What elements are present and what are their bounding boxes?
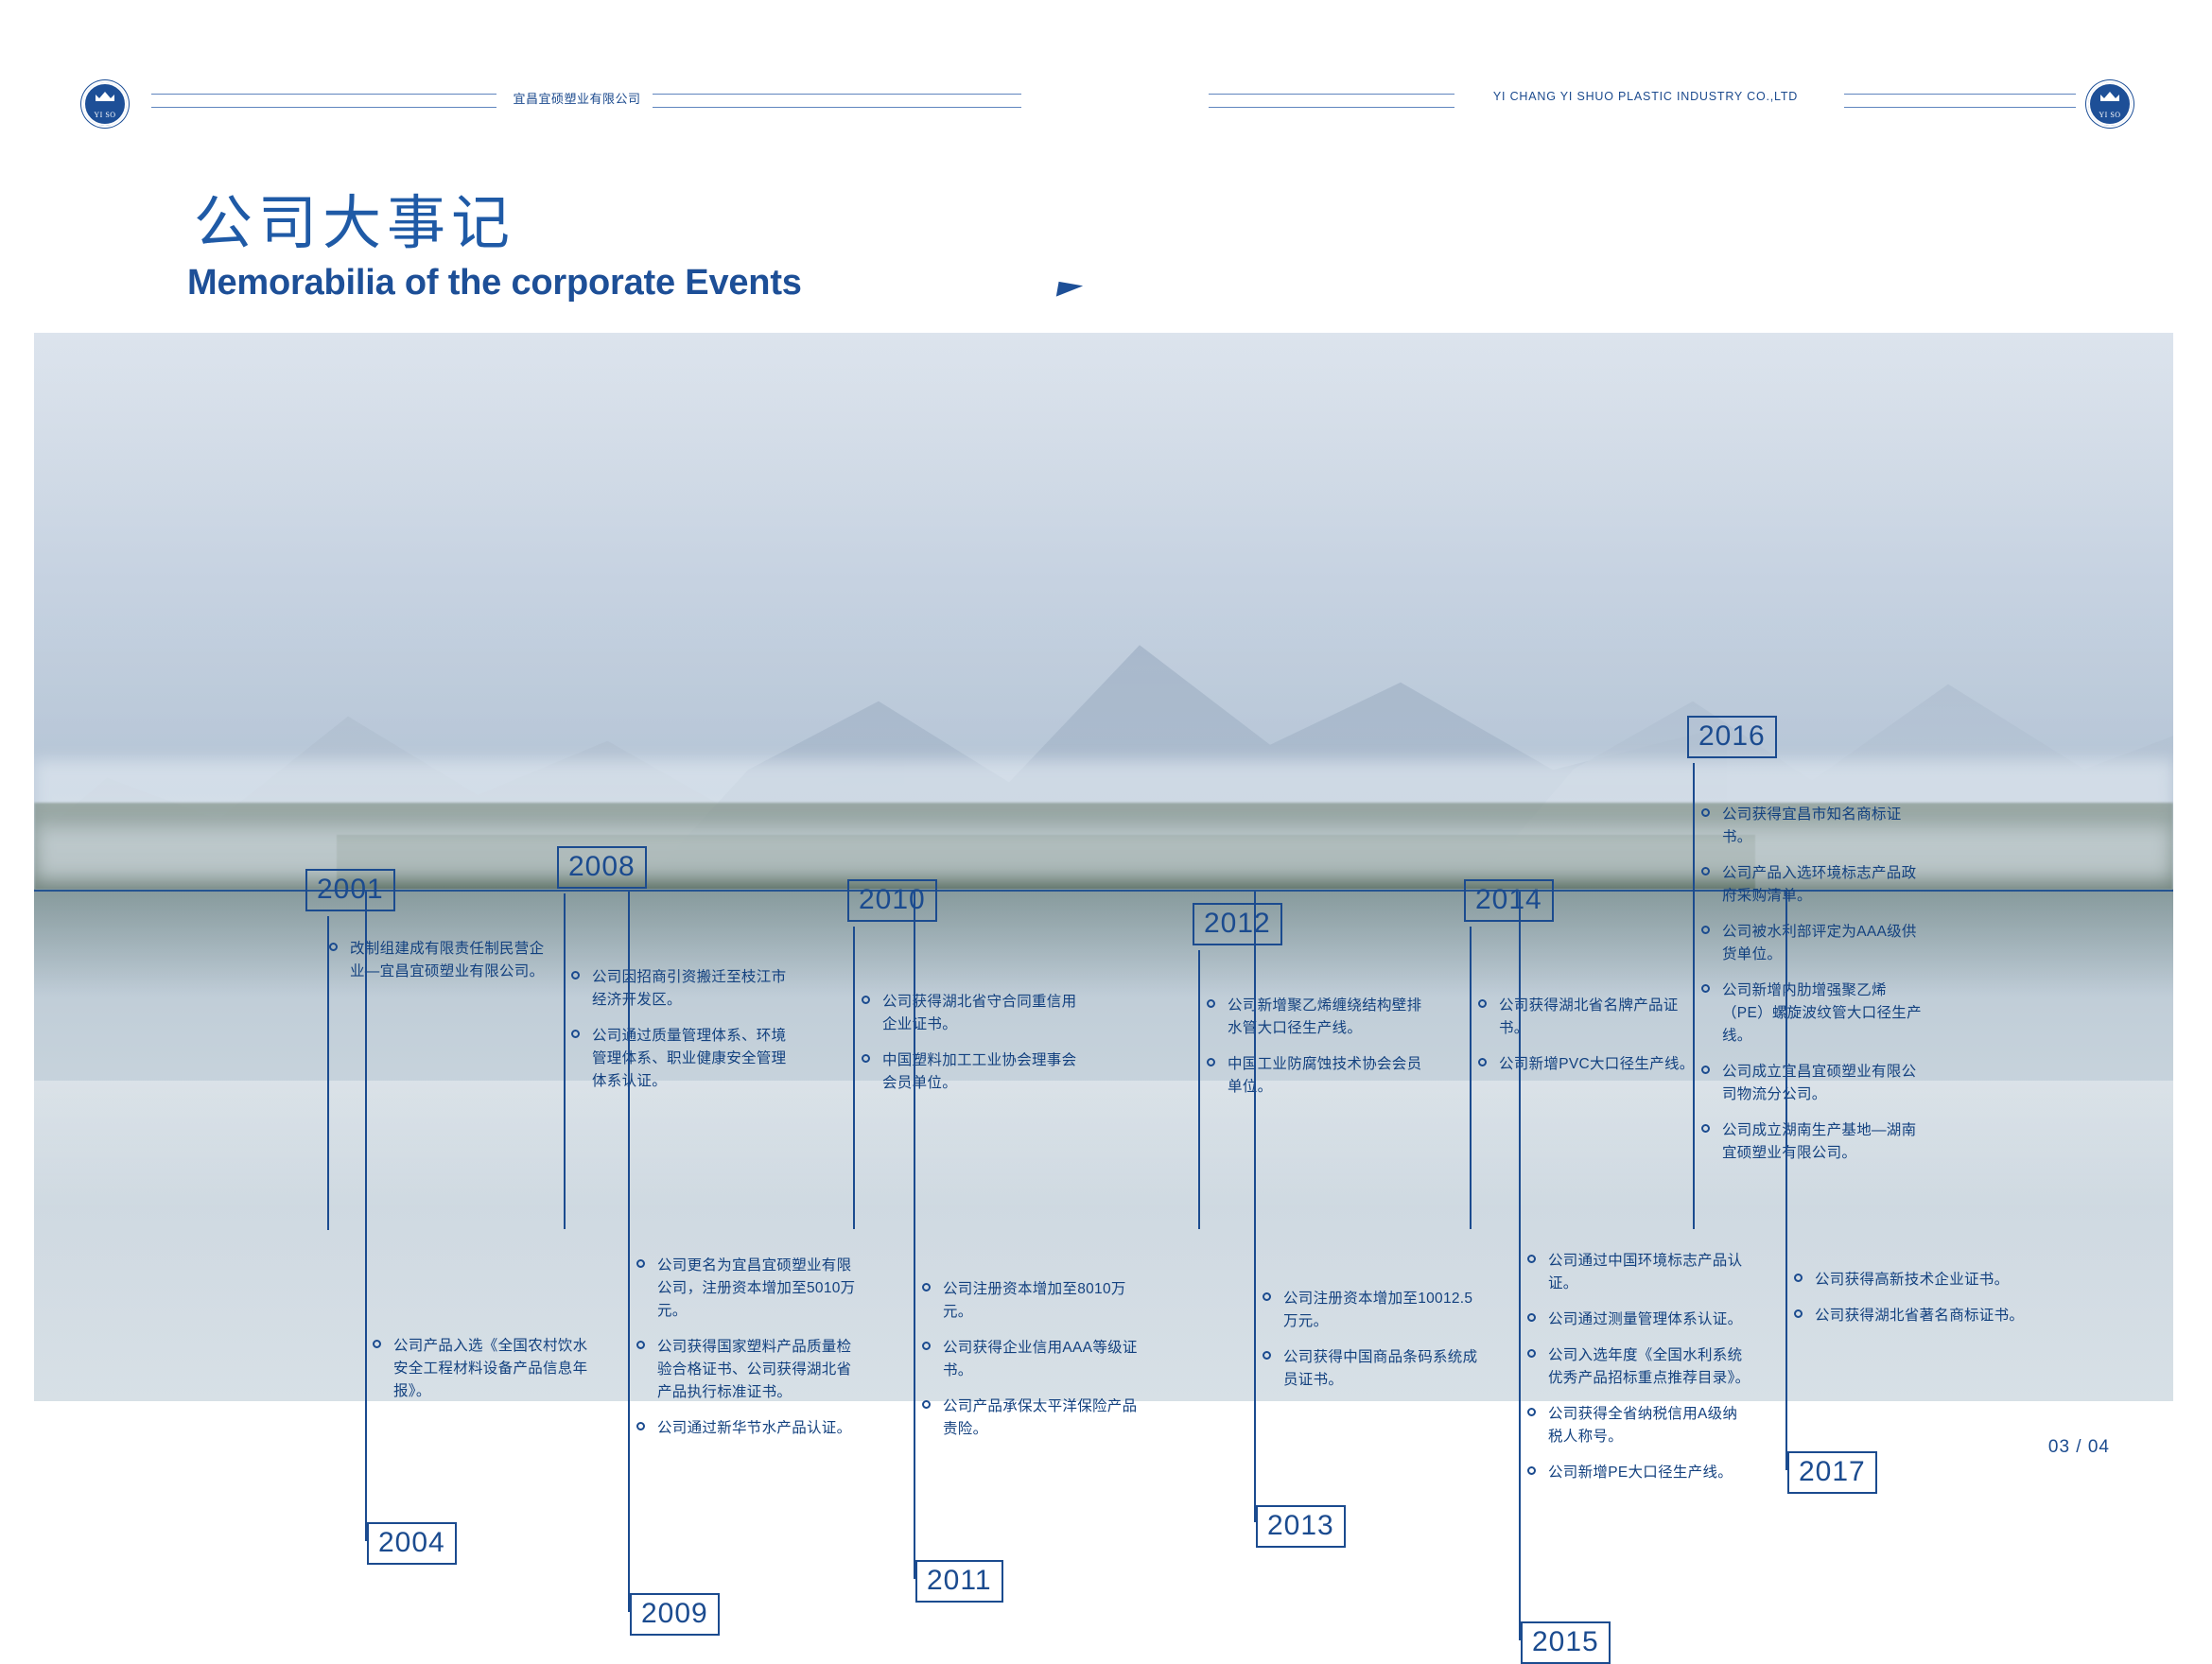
list-item: 公司获得国家塑料产品质量检验合格证书、公司获得湖北省产品执行标准证书。 bbox=[636, 1336, 861, 1404]
entry-items: 公司获得湖北省守合同重信用企业证书。 中国塑料加工工业协会理事会会员单位。 bbox=[862, 991, 1086, 1108]
entry-items: 公司获得宜昌市知名商标证书。 公司产品入选环境标志产品政府采购清单。 公司被水利… bbox=[1701, 804, 1925, 1178]
entry-items: 公司注册资本增加至8010万元。 公司获得企业信用AAA等级证书。 公司产品承保… bbox=[922, 1278, 1146, 1454]
list-item: 中国工业防腐蚀技术协会会员单位。 bbox=[1207, 1053, 1431, 1099]
list-item: 公司获得全省纳税信用A级纳税人称号。 bbox=[1527, 1403, 1751, 1448]
logo-ring bbox=[2088, 82, 2132, 126]
year-label: 2014 bbox=[1464, 879, 1554, 922]
year-label: 2017 bbox=[1787, 1451, 1877, 1494]
entry-items: 公司获得高新技术企业证书。 公司获得湖北省著名商标证书。 bbox=[1794, 1269, 2024, 1341]
page-number: 03 / 04 bbox=[2048, 1437, 2110, 1458]
entry-bracket bbox=[1470, 927, 1472, 1229]
logo-text: YI SO bbox=[2088, 111, 2132, 119]
header-company-name-en: YI CHANG YI SHUO PLASTIC INDUSTRY CO.,LT… bbox=[1437, 90, 1854, 103]
header-rule bbox=[1844, 107, 2076, 108]
list-item: 中国塑料加工工业协会理事会会员单位。 bbox=[862, 1049, 1086, 1095]
list-item: 公司新增内肋增强聚乙烯（PE）螺旋波纹管大口径生产线。 bbox=[1701, 979, 1925, 1048]
header-rule bbox=[653, 94, 1021, 95]
year-label: 2004 bbox=[367, 1522, 457, 1565]
list-item: 公司新增聚乙烯缠绕结构壁排水管大口径生产线。 bbox=[1207, 995, 1431, 1040]
company-logo-left: YI SO bbox=[83, 82, 127, 126]
year-label: 2009 bbox=[630, 1593, 720, 1636]
year-label: 2012 bbox=[1193, 903, 1282, 945]
list-item: 公司更名为宜昌宜硕塑业有限公司，注册资本增加至5010万元。 bbox=[636, 1255, 861, 1323]
entry-items: 公司更名为宜昌宜硕塑业有限公司，注册资本增加至5010万元。 公司获得国家塑料产… bbox=[636, 1255, 861, 1453]
list-item: 公司注册资本增加至8010万元。 bbox=[922, 1278, 1146, 1324]
list-item: 公司获得湖北省名牌产品证书。 bbox=[1478, 995, 1702, 1040]
timeline: 2001 改制组建成有限责任制民营企业—宜昌宜硕塑业有限公司。 2008 公司因… bbox=[34, 333, 2173, 1401]
list-item: 公司获得高新技术企业证书。 bbox=[1794, 1269, 2024, 1291]
brochure-page: YI SO YI SO 宜昌宜硕塑业有限公司 YI CHANG YI SHUO … bbox=[0, 0, 2212, 1563]
header-rule bbox=[1844, 94, 2076, 95]
list-item: 公司被水利部评定为AAA级供货单位。 bbox=[1701, 921, 1925, 966]
entry-bracket bbox=[1785, 892, 1787, 1470]
entry-items: 公司注册资本增加至10012.5万元。 公司获得中国商品条码系统成员证书。 bbox=[1263, 1288, 1487, 1405]
entry-bracket bbox=[564, 893, 566, 1229]
list-item: 公司获得宜昌市知名商标证书。 bbox=[1701, 804, 1925, 849]
list-item: 公司成立宜昌宜硕塑业有限公司物流分公司。 bbox=[1701, 1061, 1925, 1106]
entry-items: 公司因招商引资搬迁至枝江市经济开发区。 公司通过质量管理体系、环境管理体系、职业… bbox=[571, 966, 795, 1106]
list-item: 公司通过中国环境标志产品认证。 bbox=[1527, 1250, 1751, 1295]
entry-items: 公司获得湖北省名牌产品证书。 公司新增PVC大口径生产线。 bbox=[1478, 995, 1702, 1089]
page-header: YI SO YI SO 宜昌宜硕塑业有限公司 YI CHANG YI SHUO … bbox=[0, 0, 2212, 180]
entry-items: 改制组建成有限责任制民营企业—宜昌宜硕塑业有限公司。 bbox=[329, 938, 553, 997]
logo-ring bbox=[83, 82, 127, 126]
entry-bracket bbox=[853, 927, 855, 1229]
header-rule bbox=[1209, 94, 1454, 95]
year-label: 2001 bbox=[305, 869, 395, 911]
list-item: 公司产品入选《全国农村饮水安全工程材料设备产品信息年报》。 bbox=[373, 1335, 597, 1403]
crown-icon bbox=[94, 91, 116, 102]
year-label: 2013 bbox=[1256, 1505, 1346, 1548]
list-item: 公司获得企业信用AAA等级证书。 bbox=[922, 1337, 1146, 1382]
list-item: 公司获得湖北省守合同重信用企业证书。 bbox=[862, 991, 1086, 1036]
title-arrow-icon bbox=[1056, 282, 1083, 301]
header-company-name-cn: 宜昌宜硕塑业有限公司 bbox=[496, 89, 657, 107]
list-item: 公司获得中国商品条码系统成员证书。 bbox=[1263, 1346, 1487, 1392]
list-item: 公司入选年度《全国水利系统优秀产品招标重点推荐目录》。 bbox=[1527, 1344, 1751, 1390]
header-rule bbox=[151, 94, 496, 95]
header-rule bbox=[653, 107, 1021, 108]
header-rule bbox=[151, 107, 496, 108]
page-title-en: Memorabilia of the corporate Events bbox=[187, 263, 802, 303]
list-item: 公司通过新华节水产品认证。 bbox=[636, 1417, 861, 1440]
header-rule bbox=[1209, 107, 1454, 108]
list-item: 公司通过质量管理体系、环境管理体系、职业健康安全管理体系认证。 bbox=[571, 1025, 795, 1093]
entry-bracket bbox=[628, 892, 630, 1612]
list-item: 改制组建成有限责任制民营企业—宜昌宜硕塑业有限公司。 bbox=[329, 938, 553, 983]
list-item: 公司因招商引资搬迁至枝江市经济开发区。 bbox=[571, 966, 795, 1012]
logo-text: YI SO bbox=[83, 111, 127, 119]
list-item: 公司新增PE大口径生产线。 bbox=[1527, 1462, 1751, 1484]
list-item: 公司产品入选环境标志产品政府采购清单。 bbox=[1701, 862, 1925, 908]
year-label: 2015 bbox=[1521, 1621, 1611, 1664]
year-label: 2008 bbox=[557, 846, 647, 889]
entry-bracket bbox=[1254, 892, 1256, 1522]
list-item: 公司产品承保太平洋保险产品责险。 bbox=[922, 1395, 1146, 1441]
entry-bracket bbox=[365, 892, 367, 1541]
list-item: 公司注册资本增加至10012.5万元。 bbox=[1263, 1288, 1487, 1333]
year-label: 2016 bbox=[1687, 716, 1777, 758]
entry-items: 公司产品入选《全国农村饮水安全工程材料设备产品信息年报》。 bbox=[373, 1335, 597, 1416]
page-title-cn: 公司大事记 bbox=[194, 175, 515, 260]
year-label: 2010 bbox=[847, 879, 937, 922]
entry-bracket bbox=[914, 892, 915, 1579]
year-label: 2011 bbox=[915, 1560, 1003, 1603]
list-item: 公司成立湖南生产基地—湖南宜硕塑业有限公司。 bbox=[1701, 1119, 1925, 1165]
list-item: 公司通过测量管理体系认证。 bbox=[1527, 1309, 1751, 1331]
entry-bracket bbox=[1519, 892, 1521, 1640]
entry-bracket bbox=[1693, 763, 1695, 1229]
entry-bracket bbox=[1198, 950, 1200, 1229]
list-item: 公司获得湖北省著名商标证书。 bbox=[1794, 1305, 2024, 1327]
entry-items: 公司新增聚乙烯缠绕结构壁排水管大口径生产线。 中国工业防腐蚀技术协会会员单位。 bbox=[1207, 995, 1431, 1112]
crown-icon bbox=[2099, 91, 2121, 102]
company-logo-right: YI SO bbox=[2088, 82, 2132, 126]
list-item: 公司新增PVC大口径生产线。 bbox=[1478, 1053, 1702, 1076]
entry-items: 公司通过中国环境标志产品认证。 公司通过测量管理体系认证。 公司入选年度《全国水… bbox=[1527, 1250, 1751, 1498]
